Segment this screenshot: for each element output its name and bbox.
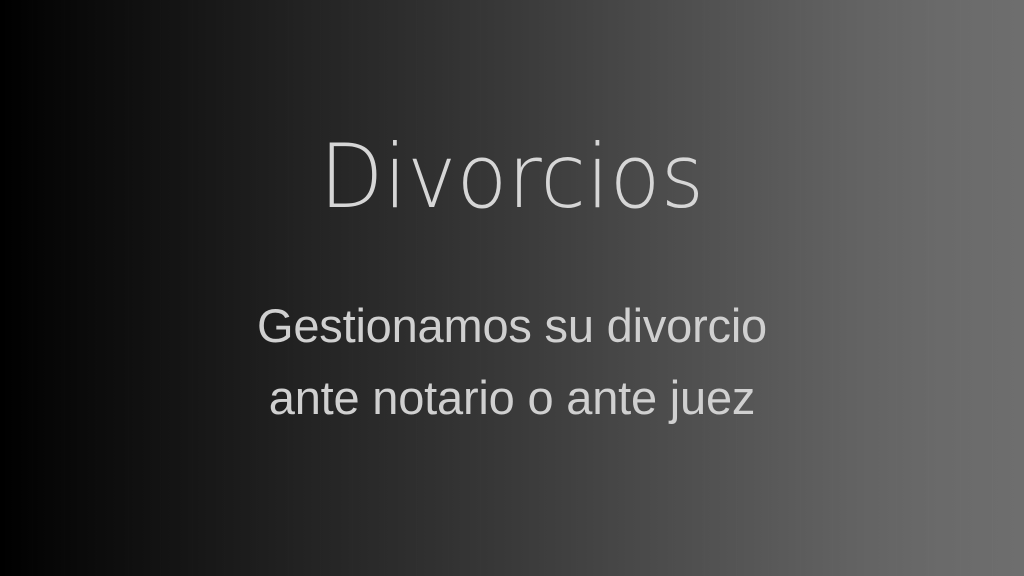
slide-subtitle: Gestionamos su divorcio ante notario o a… [0,290,1024,434]
title-slide: Divorcios Gestionamos su divorcio ante n… [0,0,1024,576]
subtitle-line-2: ante notario o ante juez [0,362,1024,434]
slide-text-stack: Divorcios Gestionamos su divorcio ante n… [0,0,1024,576]
subtitle-line-1: Gestionamos su divorcio [0,290,1024,362]
page-title: Divorcios [31,133,994,221]
